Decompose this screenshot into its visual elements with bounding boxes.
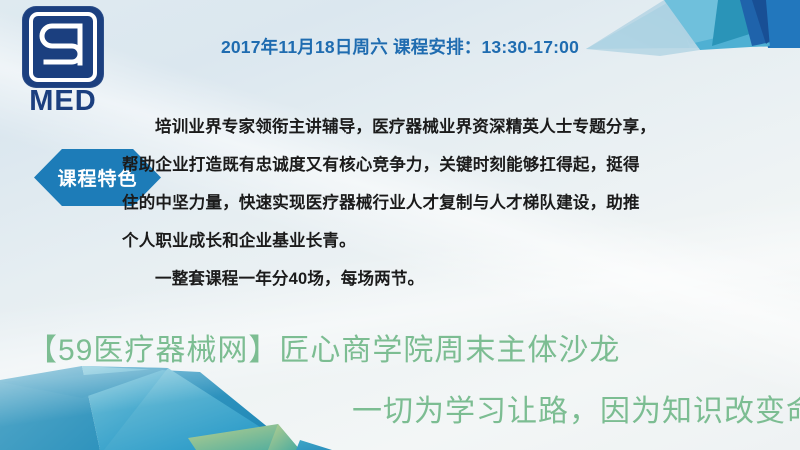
brand-logo: MED: [14, 6, 118, 114]
course-date-time: 2017年11月18日周六 课程安排：13:30-17:00: [0, 0, 800, 59]
facet-tail-blue: [296, 440, 332, 450]
facet-olive-green: [268, 424, 300, 450]
facet-big-triangle: [104, 368, 296, 450]
organizer-line: 【59医疗器械网】匠心商学院周末主体沙龙: [27, 325, 620, 369]
body-line-1: 培训业界专家领衔主讲辅导，医疗器械业界资深精英人士专题分享，: [122, 108, 782, 146]
body-line-3: 住的中坚力量，快速实现医疗器械行业人才复制与人才梯队建设，助推: [122, 184, 782, 222]
facet-upper-left-wedge: [0, 368, 168, 398]
header-band: 2017年11月18日周六 课程安排：13:30-17:00: [0, 0, 800, 96]
slogan-line: 一切为学习让路，因为知识改变命运: [352, 386, 800, 430]
logo-wordmark: MED: [14, 87, 112, 116]
facet-steel-blue: [0, 366, 100, 450]
s-med-logo-mark: [22, 6, 104, 88]
bottom-left-facet-group: [0, 366, 332, 450]
facet-cyan: [82, 366, 200, 450]
slide-canvas: 2017年11月18日周六 课程安排：13:30-17:00 MED 课程特色 …: [0, 0, 800, 450]
facet-light-cyan: [82, 366, 296, 450]
body-line-5: 一整套课程一年分40场，每场两节。: [122, 260, 782, 298]
body-line-2: 帮助企业打造既有忠诚度又有核心竞争力，关键时刻能够扛得起，挺得: [122, 146, 782, 184]
body-line-4: 个人职业成长和企业基业长青。: [122, 222, 782, 260]
facet-green-teal: [188, 424, 300, 450]
body-paragraph: 培训业界专家领衔主讲辅导，医疗器械业界资深精英人士专题分享， 帮助企业打造既有忠…: [122, 108, 782, 298]
